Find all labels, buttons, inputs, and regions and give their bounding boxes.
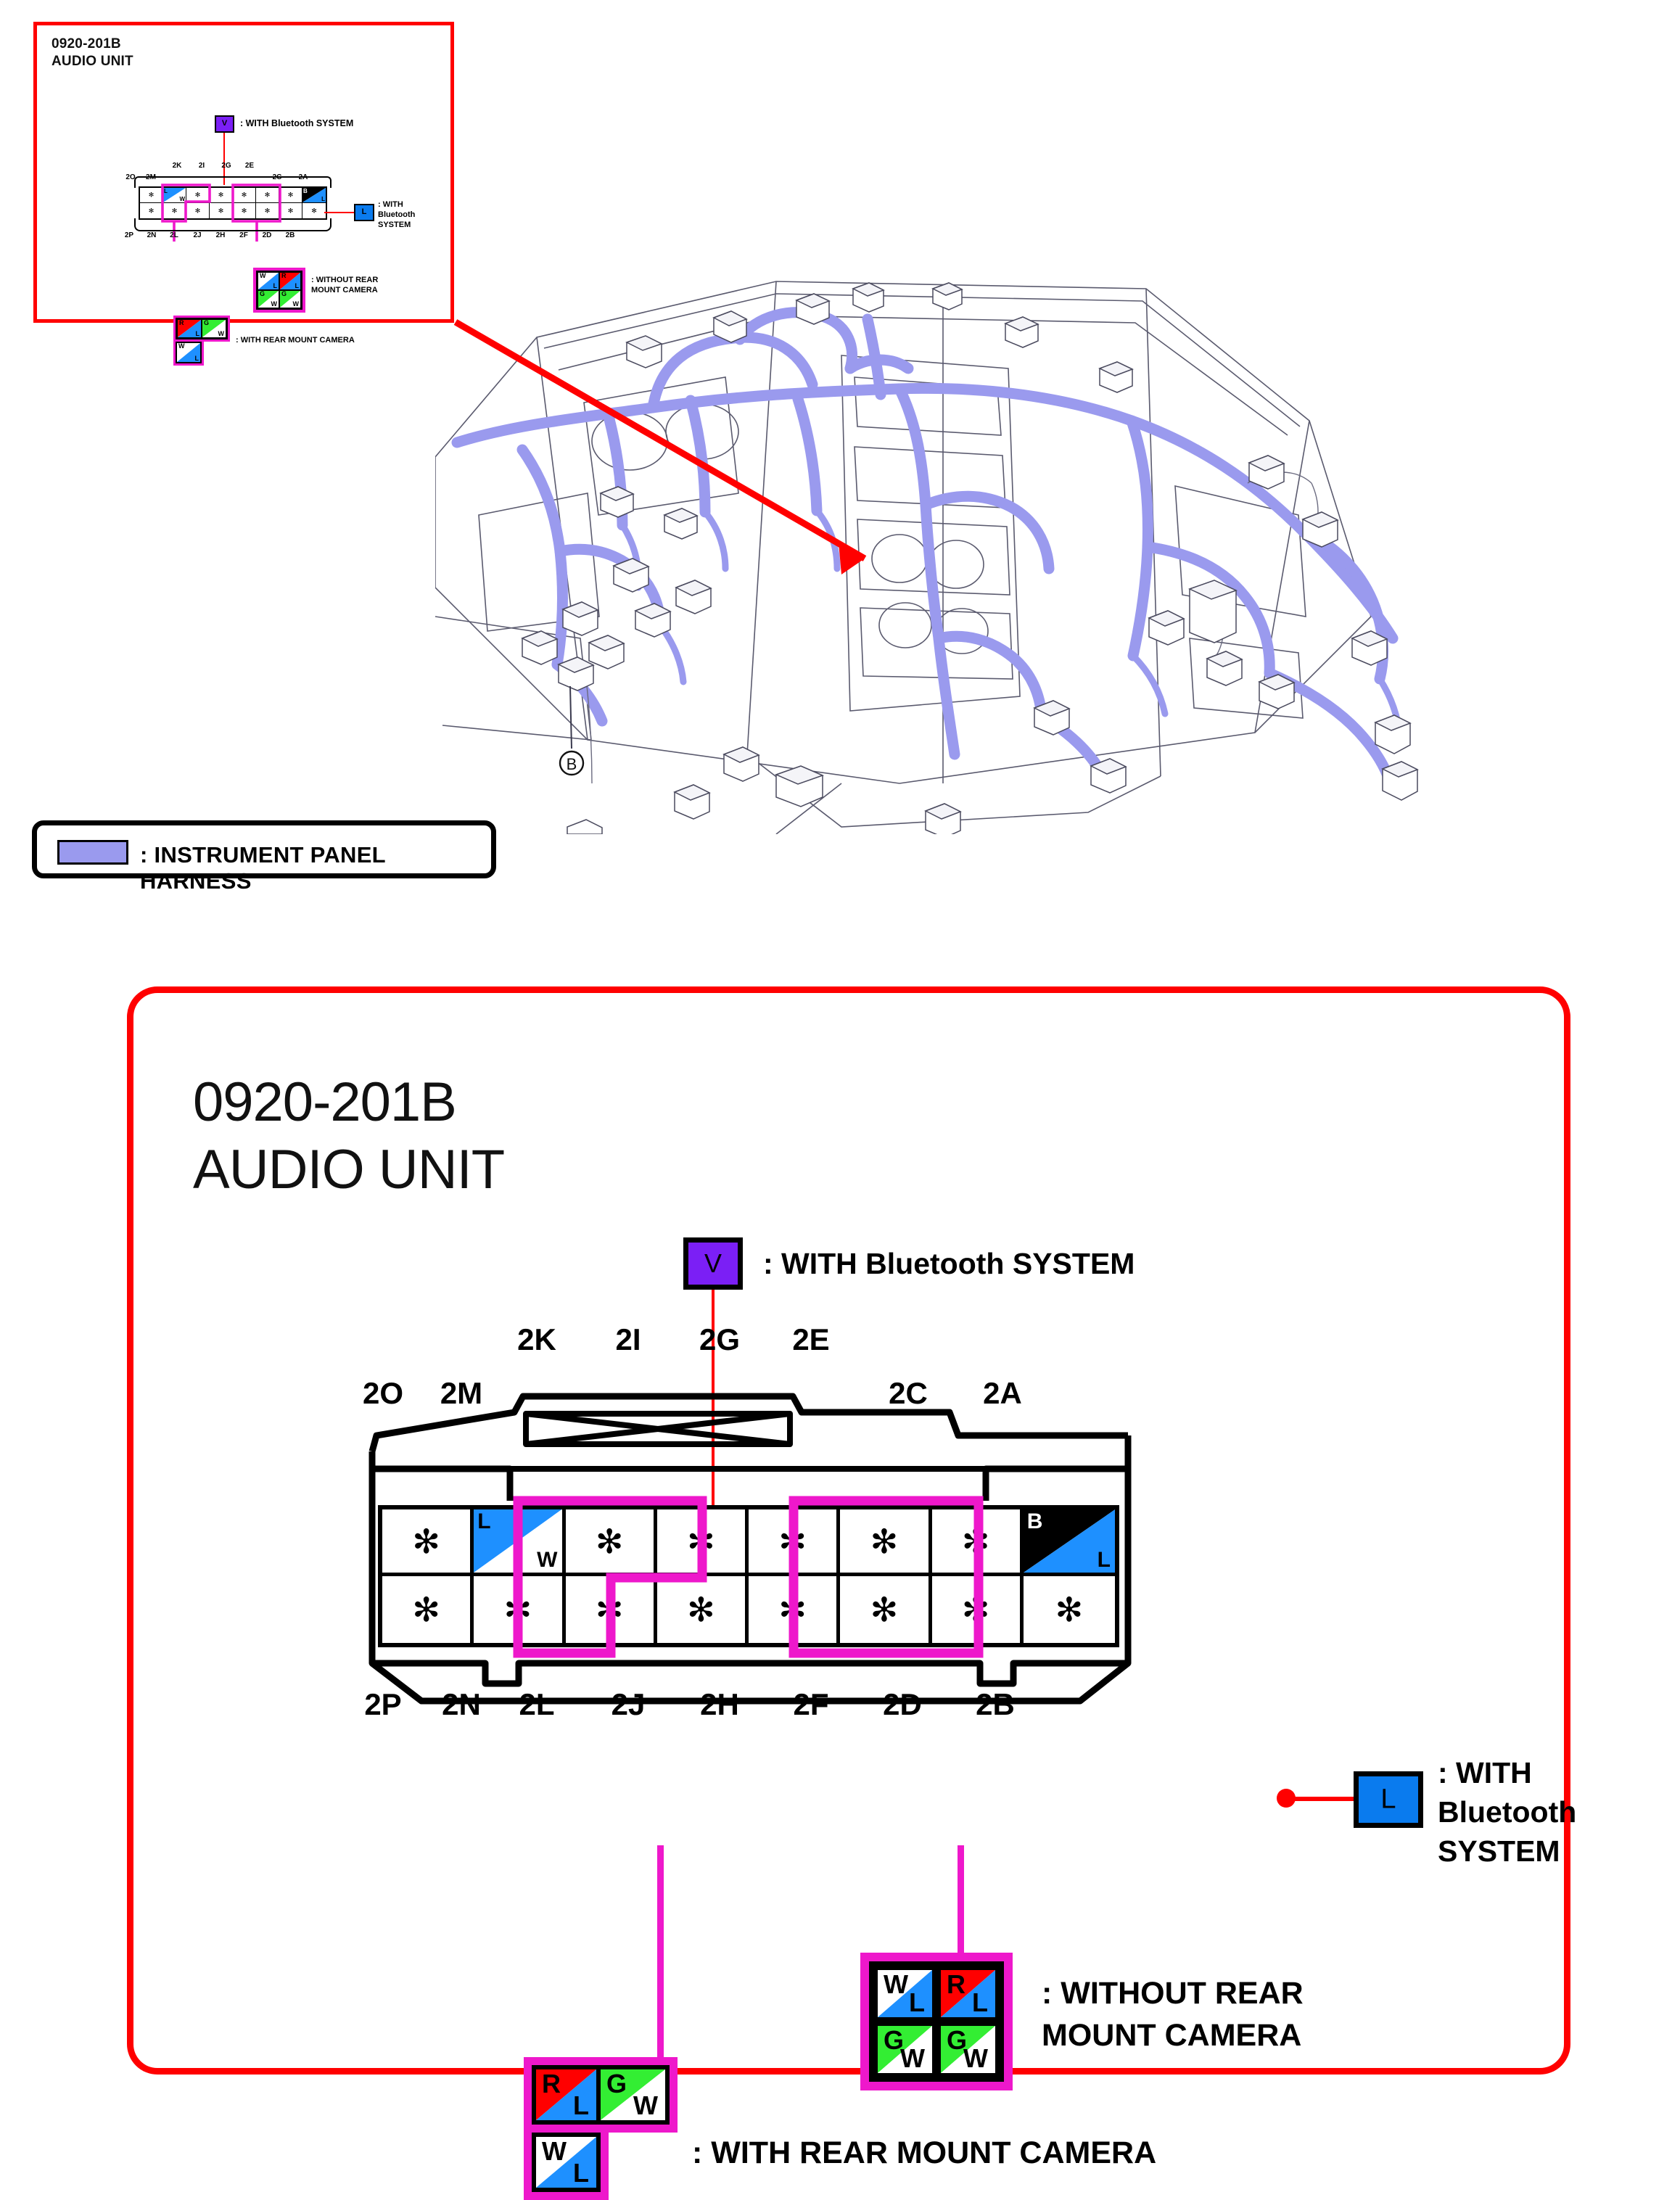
harness-legend-label: : INSTRUMENT PANEL HARNESS (140, 842, 491, 894)
blue-lead-line (1285, 1797, 1358, 1801)
without-camera-label: : WITHOUT REAR MOUNT CAMERA (1042, 1972, 1304, 2056)
without-camera-swatch-group: W L R L G W G (860, 1953, 1013, 2090)
wire-color-code: G (606, 2071, 627, 2097)
reference-marker-b: B (567, 755, 577, 773)
audio-unit-detail-panel: 0920-201B AUDIO UNIT V : WITH Bluetooth … (127, 986, 1570, 2075)
inset-bluetooth-blue-label: : WITH Bluetooth SYSTEM (378, 200, 415, 230)
wire-color-cell: G W (936, 2022, 1000, 2077)
bluetooth-violet-swatch: V (683, 1237, 743, 1290)
top-overview-section: B 0920-201BAUDIO UNIT V : WITH Bluetooth… (0, 0, 1680, 950)
pin-label-2d: 2D (862, 1687, 942, 1722)
pin-label-2n: 2N (421, 1687, 501, 1722)
inset-quad-cell: RL (177, 319, 202, 338)
wire-color-code: W (884, 1972, 908, 1998)
with-camera-lead-line (657, 1845, 664, 2059)
connector-diagram: 2K 2I 2G 2E 2O 2M 2C 2A (355, 1327, 1145, 1733)
wire-color-code: R (947, 1972, 965, 1998)
inset-title: 0920-201BAUDIO UNIT (52, 36, 133, 71)
wire-color-code: L (573, 2160, 589, 2186)
pin-label-2h: 2H (680, 1687, 759, 1722)
inset-connector-shell-bottom (134, 218, 332, 231)
bluetooth-blue-label: : WITH Bluetooth SYSTEM (1438, 1753, 1576, 1871)
inset-bluetooth-violet-label: : WITH Bluetooth SYSTEM (240, 118, 353, 128)
inset-blue-code: L (355, 207, 373, 216)
inset-without-camera-label: : WITHOUT REAR MOUNT CAMERA (311, 275, 378, 296)
wire-color-code: L (573, 2093, 589, 2119)
harness-color-swatch (57, 840, 128, 865)
pin-label-2p: 2P (343, 1687, 423, 1722)
inset-pin-label-2l: 2L (163, 231, 185, 239)
wire-color-cell: R L (936, 1966, 1000, 2022)
inset-pin-label-2j: 2J (186, 231, 208, 239)
blue-code-label: L (1359, 1784, 1418, 1816)
wire-color-cell: R L (532, 2065, 601, 2125)
instrument-panel-illustration: B (435, 276, 1473, 834)
inset-quad-cell: GW (202, 319, 226, 338)
wire-color-code: W (633, 2093, 658, 2119)
wire-color-code: W (963, 2045, 988, 2072)
inset-quad-cell: WL (258, 272, 279, 290)
inset-bluetooth-blue-swatch: L (354, 204, 374, 221)
inset-without-camera-swatch: WL RL GW GW (253, 268, 305, 313)
wire-color-cell: W L (532, 2133, 601, 2192)
harness-legend-box: : INSTRUMENT PANEL HARNESS (32, 820, 496, 878)
inset-pin-label-2p: 2P (118, 231, 140, 239)
inset-quad-cell: GW (258, 290, 279, 308)
violet-code-label: V (688, 1248, 738, 1279)
camera-highlight-outlines (355, 1327, 1145, 1733)
pin-label-2f: 2F (771, 1687, 851, 1722)
inset-pin-label-2f: 2F (233, 231, 255, 239)
inset-pin-label-2b: 2B (279, 231, 301, 239)
wire-color-code: W (900, 2045, 925, 2072)
without-camera-lead-line (958, 1845, 964, 1954)
wire-color-cell: G W (601, 2065, 670, 2125)
inset-callout-box: 0920-201BAUDIO UNIT V : WITH Bluetooth S… (33, 22, 454, 323)
bluetooth-blue-swatch: L (1354, 1771, 1423, 1828)
inset-quad-cell: WL (177, 343, 200, 362)
inset-bluetooth-violet-swatch: V (215, 115, 234, 133)
wire-color-code: L (972, 1990, 988, 2016)
page-title: 0920-201B AUDIO UNIT (193, 1069, 504, 1203)
pin-label-2l: 2L (497, 1687, 577, 1722)
inset-pin-label-2h: 2H (210, 231, 231, 239)
inset-quad-cell: GW (279, 290, 301, 308)
inset-blue-lead-line (324, 212, 355, 213)
pin-label-2j: 2J (588, 1687, 668, 1722)
wire-color-code: W (542, 2138, 567, 2164)
with-camera-label: : WITH REAR MOUNT CAMERA (692, 2135, 1156, 2171)
wire-color-code: L (909, 1990, 925, 2016)
inset-title-code: 0920-201B (52, 36, 121, 52)
wire-color-code: R (542, 2071, 561, 2097)
wire-color-cell: G W (873, 2022, 936, 2077)
with-camera-swatch-group: R L G W W L (524, 2057, 678, 2196)
bluetooth-violet-label: : WITH Bluetooth SYSTEM (763, 1247, 1135, 1281)
inset-with-camera-label: : WITH REAR MOUNT CAMERA (236, 336, 355, 345)
inset-pin-label-2n: 2N (141, 231, 162, 239)
pin-label-2b: 2B (955, 1687, 1035, 1722)
inset-with-camera-swatch: RL GW WL (173, 316, 230, 363)
wire-color-cell: W L (873, 1966, 936, 2022)
inset-violet-code: V (216, 119, 233, 128)
inset-quad-cell: RL (279, 272, 301, 290)
inset-title-name: AUDIO UNIT (52, 54, 133, 69)
inset-connector: 2K 2I 2G 2E 2O 2M 2C 2A ✻ L W ✻ ✻ ✻ ✻ (124, 162, 342, 242)
inset-pin-label-2d: 2D (256, 231, 278, 239)
